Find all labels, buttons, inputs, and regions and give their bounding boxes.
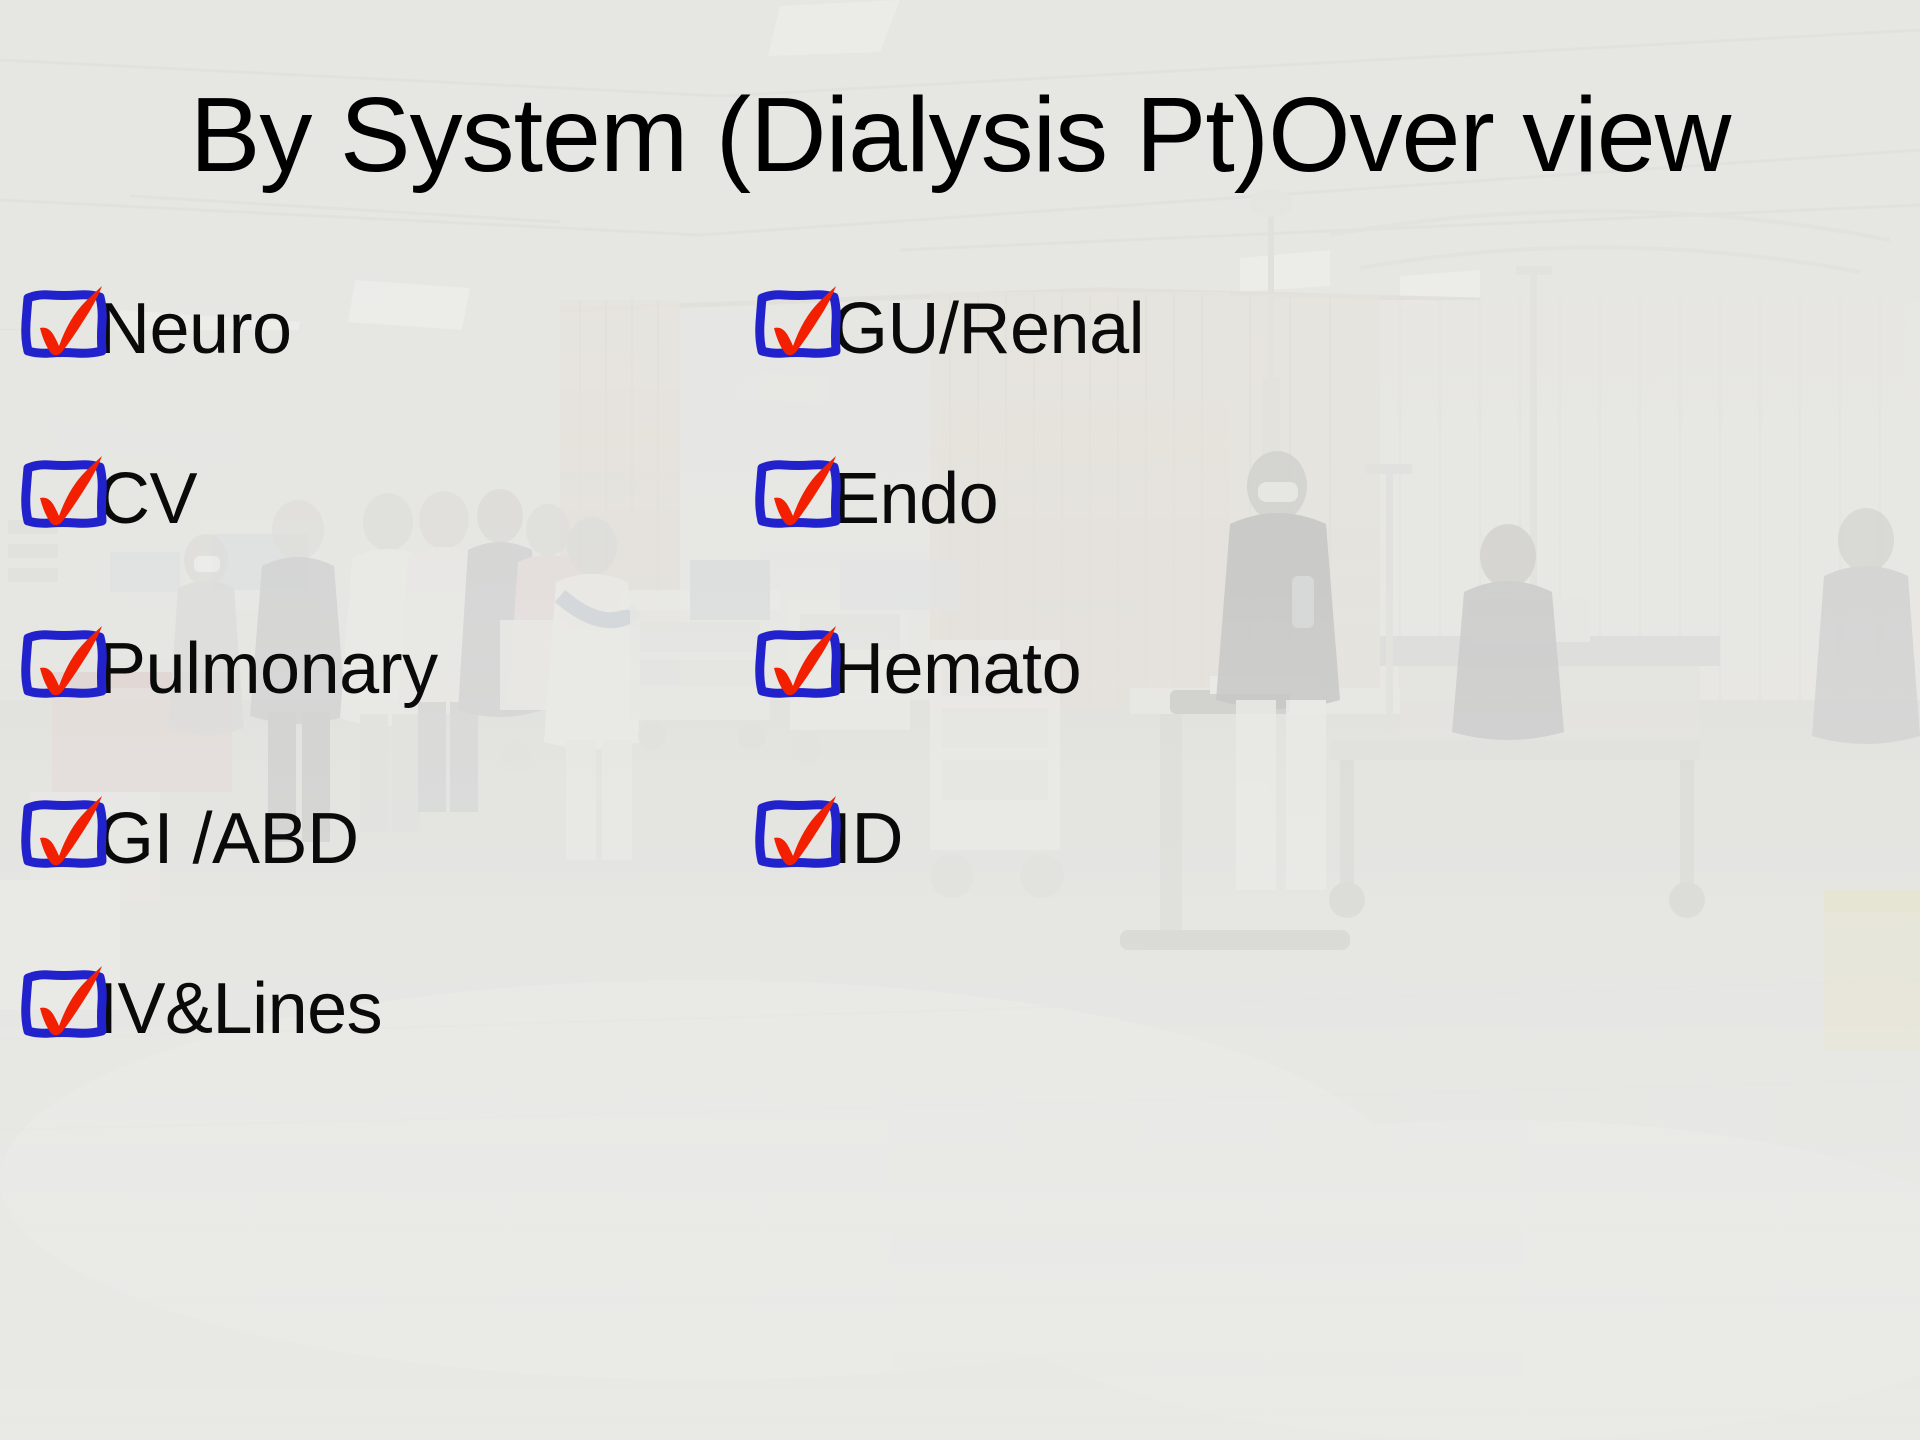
checklist-item-gu-renal[interactable]: GU/Renal: [752, 292, 1144, 366]
checklist-item-label: Endo: [832, 463, 998, 535]
checked-checkbox-icon[interactable]: [752, 802, 826, 876]
checklist-item-pulmonary[interactable]: Pulmonary: [18, 632, 438, 706]
checklist-item-label: GI /ABD: [98, 803, 359, 875]
checklist-column-right: GU/Renal Endo Hemato: [752, 292, 1144, 876]
checklist-item-label: IV&Lines: [98, 973, 382, 1045]
checklist-item-neuro[interactable]: Neuro: [18, 292, 438, 366]
checklist-item-id[interactable]: ID: [752, 802, 1144, 876]
checked-checkbox-icon[interactable]: [18, 462, 92, 536]
checked-checkbox-icon[interactable]: [18, 802, 92, 876]
checked-checkbox-icon[interactable]: [752, 292, 826, 366]
checklist-item-label: Hemato: [832, 633, 1081, 705]
checked-checkbox-icon[interactable]: [18, 292, 92, 366]
checklist-item-label: Neuro: [98, 293, 292, 365]
checklist-item-label: Pulmonary: [98, 633, 438, 705]
checked-checkbox-icon[interactable]: [18, 632, 92, 706]
checked-checkbox-icon[interactable]: [18, 972, 92, 1046]
checklist-item-endo[interactable]: Endo: [752, 462, 1144, 536]
page-title: By System (Dialysis Pt)Over view: [0, 78, 1920, 192]
slide-content: By System (Dialysis Pt)Over view Neuro C…: [0, 0, 1920, 1440]
checklist-column-left: Neuro CV Pulmonary: [18, 292, 438, 1046]
checklist-item-label: GU/Renal: [832, 293, 1144, 365]
checklist-item-gi-abd[interactable]: GI /ABD: [18, 802, 438, 876]
checklist-item-hemato[interactable]: Hemato: [752, 632, 1144, 706]
checklist-item-iv-lines[interactable]: IV&Lines: [18, 972, 438, 1046]
checklist-item-cv[interactable]: CV: [18, 462, 438, 536]
checked-checkbox-icon[interactable]: [752, 462, 826, 536]
checked-checkbox-icon[interactable]: [752, 632, 826, 706]
